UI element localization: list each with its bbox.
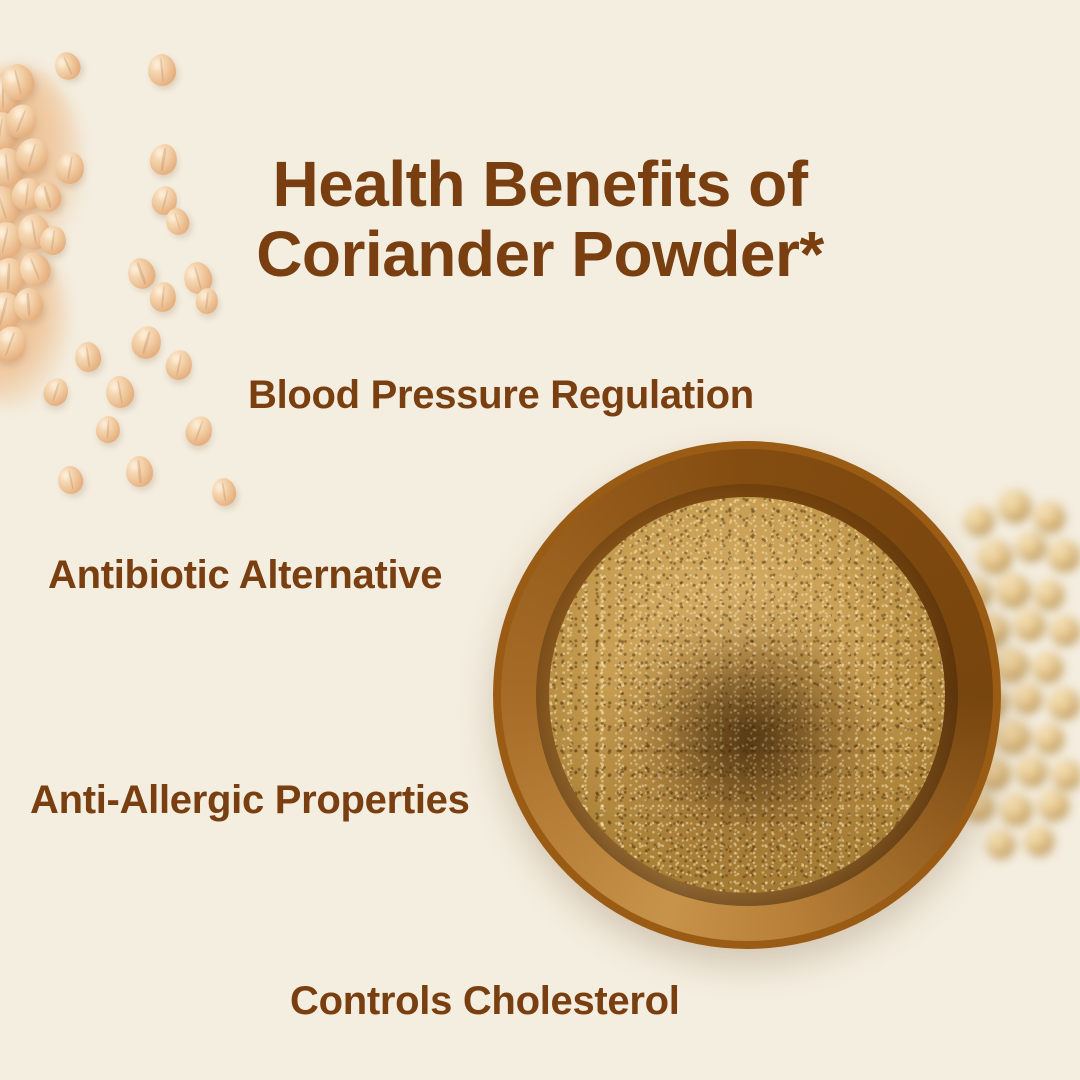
page-title-line-2: Coriander Powder* <box>256 218 824 290</box>
coriander-seed <box>146 53 177 88</box>
pile-seed <box>1048 540 1080 572</box>
page-title: Health Benefits of Coriander Powder* <box>0 149 1080 289</box>
pile-seed <box>1048 688 1080 720</box>
pile-seed <box>964 506 994 536</box>
coriander-seed <box>103 374 136 410</box>
pile-seed <box>1034 580 1064 610</box>
poster-canvas: Health Benefits of Coriander Powder* Blo… <box>0 0 1080 1080</box>
benefit-label: Blood Pressure Regulation <box>248 373 754 417</box>
benefit-blood-pressure-regulation: Blood Pressure Regulation <box>248 372 754 418</box>
powder-mound-shadow <box>549 497 945 893</box>
pile-seed <box>1050 616 1080 646</box>
pile-seed <box>1034 502 1065 533</box>
pile-seed <box>1012 684 1042 714</box>
wooden-bowl-of-coriander-powder <box>493 441 1001 949</box>
pile-seed <box>998 490 1031 523</box>
coriander-seed <box>95 415 121 444</box>
coriander-powder <box>549 497 945 893</box>
pile-seed <box>1032 652 1063 683</box>
benefit-label: Controls Cholesterol <box>290 979 680 1023</box>
pile-seed <box>1038 790 1069 821</box>
benefit-label: Antibiotic Alternative <box>48 553 442 597</box>
coriander-seed <box>125 455 155 488</box>
pile-seed <box>1016 756 1047 787</box>
pile-seed <box>1000 794 1032 826</box>
coriander-seed <box>128 323 165 363</box>
coriander-seed <box>163 348 195 383</box>
benefit-label: Anti-Allergic Properties <box>30 778 470 822</box>
page-title-line-1: Health Benefits of <box>272 148 807 220</box>
benefit-anti-allergic-properties: Anti-Allergic Properties <box>30 777 470 823</box>
coriander-seed <box>55 464 85 497</box>
coriander-seed <box>182 412 217 449</box>
pile-seed <box>996 574 1030 608</box>
pile-seed <box>996 720 1030 754</box>
coriander-seed <box>50 48 84 84</box>
pile-seed <box>1052 760 1080 790</box>
pile-seed <box>1014 610 1045 641</box>
coriander-seed <box>73 340 103 373</box>
benefit-controls-cholesterol: Controls Cholesterol <box>290 978 680 1024</box>
benefit-antibiotic-alternative: Antibiotic Alternative <box>48 552 442 598</box>
pile-seed <box>1024 826 1054 856</box>
pile-seed <box>1034 724 1064 754</box>
coriander-seed <box>210 476 238 507</box>
pile-seed <box>986 830 1015 859</box>
pile-seed <box>978 540 1012 574</box>
pile-seed <box>1016 532 1046 562</box>
